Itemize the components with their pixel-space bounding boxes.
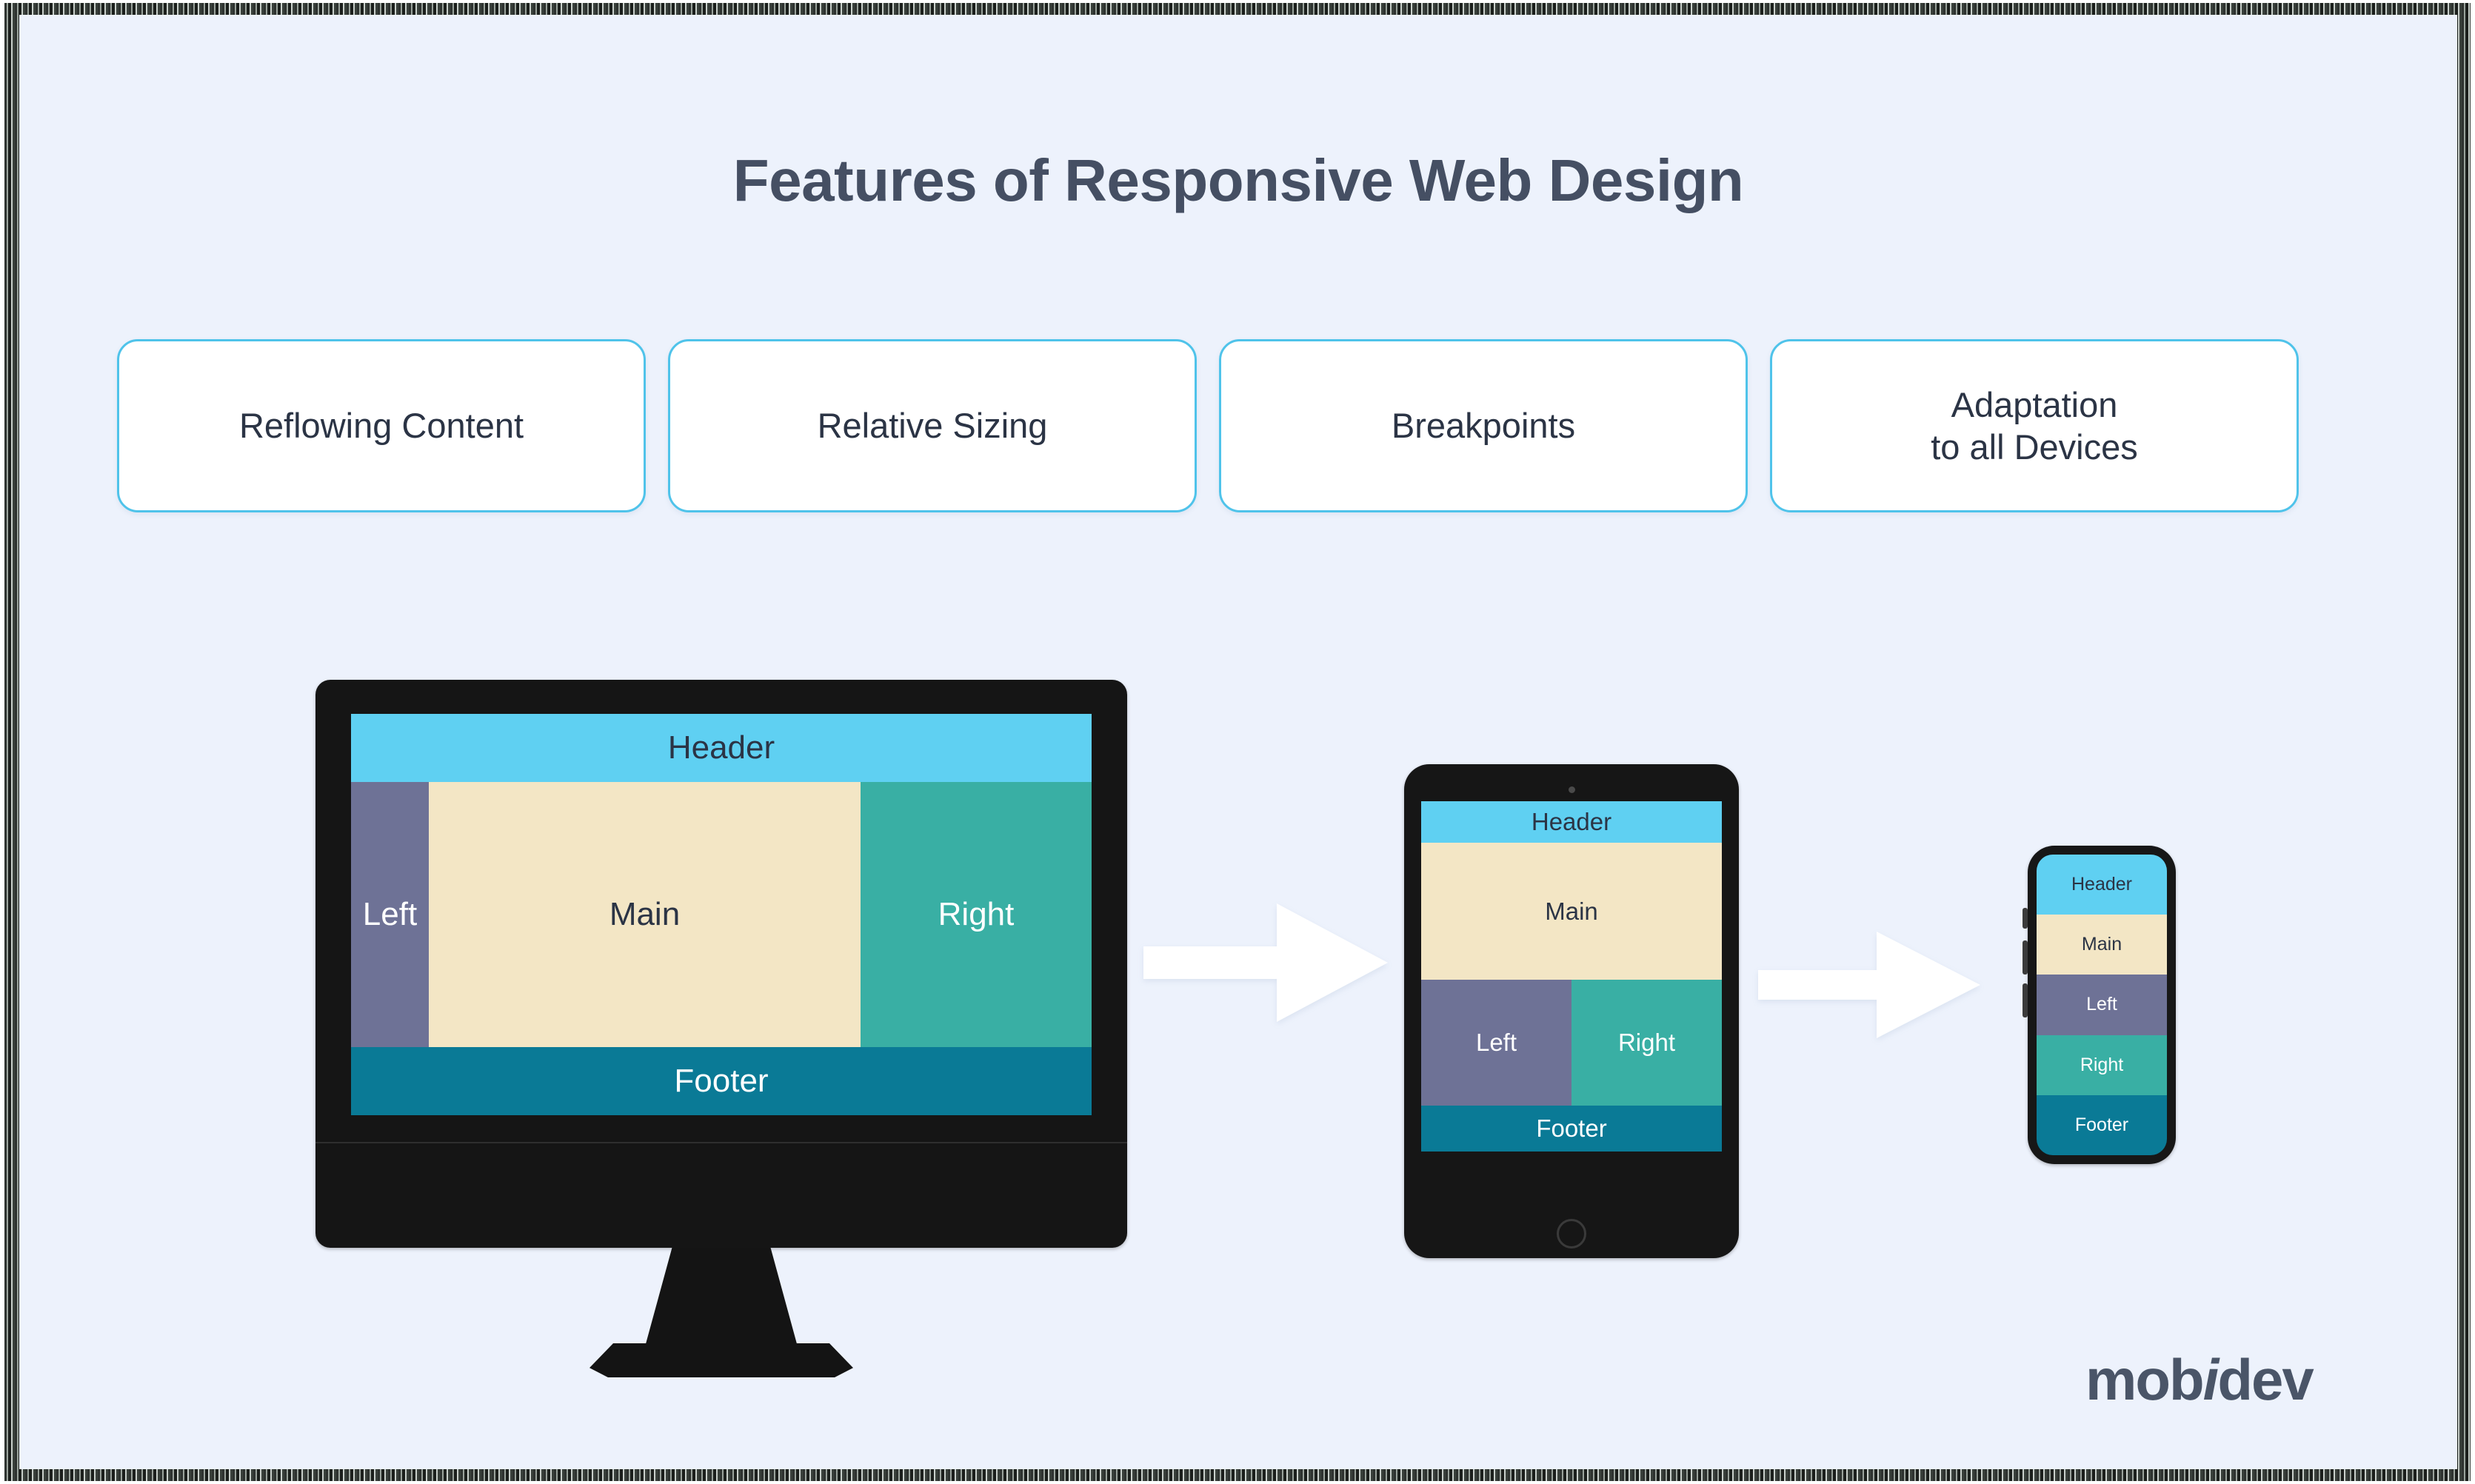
phone-region-footer: Footer [2037, 1095, 2167, 1155]
feature-card-relative-sizing[interactable]: Relative Sizing [668, 339, 1197, 512]
phone-device: Header Main Left Right Footer [2004, 837, 2197, 1185]
feature-card-reflowing-content[interactable]: Reflowing Content [117, 339, 646, 512]
feature-card-label-line2: to all Devices [1931, 427, 2138, 467]
feature-card-label: Reflowing Content [239, 404, 524, 447]
tablet-region-left: Left [1421, 980, 1571, 1106]
phone-volume-down-button-icon[interactable] [2023, 983, 2028, 1017]
desktop-region-left: Left [351, 782, 429, 1047]
page-title: Features of Responsive Web Design [19, 147, 2457, 215]
monitor-stand-base [589, 1343, 853, 1377]
feature-card-adaptation-to-all-devices[interactable]: Adaptation to all Devices [1770, 339, 2299, 512]
tablet-region-main: Main [1421, 843, 1722, 980]
phone-silent-switch-icon[interactable] [2023, 908, 2028, 929]
feature-card-breakpoints[interactable]: Breakpoints [1219, 339, 1748, 512]
desktop-monitor: Header Left Main Right Footer [299, 664, 1143, 1374]
desktop-region-main: Main [429, 782, 861, 1047]
phone-screen-layout: Header Main Left Right Footer [2037, 855, 2167, 1155]
desktop-screen-layout: Header Left Main Right Footer [351, 714, 1092, 1115]
logo-part-1: mob [2085, 1347, 2203, 1412]
monitor-stand-neck [644, 1248, 798, 1349]
logo-part-2: dev [2217, 1347, 2312, 1412]
camera-icon [1569, 786, 1575, 793]
desktop-region-header: Header [351, 714, 1092, 782]
desktop-region-footer: Footer [351, 1047, 1092, 1115]
feature-card-label: Relative Sizing [818, 404, 1048, 447]
phone-region-main: Main [2037, 915, 2167, 975]
feature-card-label-multiline: Adaptation to all Devices [1931, 384, 2138, 469]
arrow-right-icon-2 [1758, 926, 1980, 1044]
phone-volume-up-button-icon[interactable] [2023, 940, 2028, 975]
tablet-region-right: Right [1571, 980, 1722, 1106]
home-button-icon[interactable] [1557, 1219, 1586, 1249]
mobidev-logo: mobidev [2085, 1346, 2313, 1414]
tablet-region-header: Header [1421, 801, 1722, 843]
feature-card-label: Breakpoints [1392, 404, 1575, 447]
phone-region-right: Right [2037, 1035, 2167, 1095]
monitor-chin-divider [315, 1142, 1127, 1143]
arrow-right-icon-1 [1143, 896, 1388, 1029]
phone-region-left: Left [2037, 975, 2167, 1035]
feature-card-label-line1: Adaptation [1951, 385, 2118, 424]
phone-region-header: Header [2037, 855, 2167, 915]
image-frame: Features of Responsive Web Design Reflow… [0, 0, 2475, 1484]
tablet-screen-layout: Header Main Left Right Footer [1421, 801, 1722, 1197]
tablet-device: Header Main Left Right Footer [1386, 745, 1757, 1278]
desktop-region-right: Right [861, 782, 1092, 1047]
logo-italic-i: i [2203, 1347, 2218, 1412]
slide-canvas: Features of Responsive Web Design Reflow… [19, 15, 2457, 1469]
tablet-region-footer: Footer [1421, 1106, 1722, 1152]
